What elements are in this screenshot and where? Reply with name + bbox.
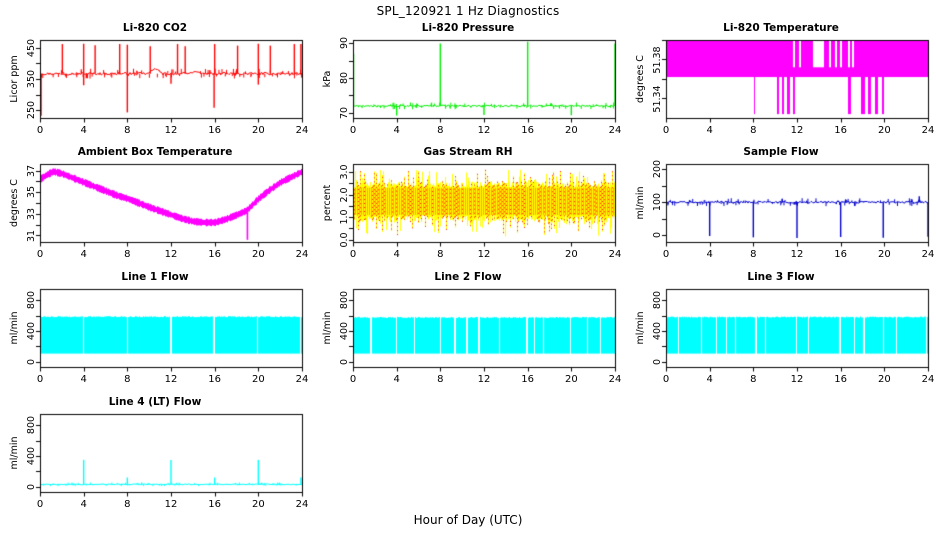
y-tick-label-li820-co2-0: 250 — [26, 101, 37, 119]
x-tick-label-line-1-flow-0: 0 — [26, 374, 54, 385]
diagnostics-figure: SPL_120921 1 Hz Diagnostics Li-820 CO2Li… — [0, 0, 936, 540]
y-tick-label-line-3-flow-0: 0 — [652, 359, 663, 365]
x-tick-label-line-2-flow-4: 16 — [514, 374, 542, 385]
y-axis-label-line-1-flow: ml/min — [9, 311, 20, 344]
y-tick-label-line-1-flow-2: 800 — [26, 291, 37, 309]
plot-canvas-line-3-flow — [626, 271, 936, 383]
x-tick-label-line-2-flow-3: 12 — [470, 374, 498, 385]
x-tick-label-li820-temperature-2: 8 — [739, 125, 767, 136]
plot-canvas-line-4-lt-flow — [0, 396, 310, 508]
x-tick-label-li820-co2-4: 16 — [201, 125, 229, 136]
panel-line-3-flow: Line 3 Flowml/min040080004812162024 — [626, 271, 936, 383]
x-tick-label-line-2-flow-5: 20 — [557, 374, 585, 385]
y-tick-label-line-1-flow-0: 0 — [26, 359, 37, 365]
x-tick-label-line-4-lt-flow-4: 16 — [201, 499, 229, 510]
y-axis-label-line-4-lt-flow: ml/min — [9, 436, 20, 469]
x-tick-label-line-1-flow-6: 24 — [288, 374, 316, 385]
x-tick-label-li820-temperature-1: 4 — [696, 125, 724, 136]
y-tick-label-li820-co2-1: 350 — [26, 70, 37, 88]
plot-canvas-sample-flow — [626, 146, 936, 258]
x-tick-label-line-1-flow-3: 12 — [157, 374, 185, 385]
plot-canvas-li820-pressure — [313, 22, 623, 134]
x-tick-label-li820-temperature-4: 16 — [827, 125, 855, 136]
panel-gas-stream-rh: Gas Stream RHpercent0.01.02.03.004812162… — [313, 146, 623, 258]
y-axis-label-li820-co2: Licor ppm — [9, 55, 20, 102]
x-tick-label-sample-flow-1: 4 — [696, 249, 724, 260]
y-axis-label-li820-pressure: kPa — [322, 71, 333, 88]
x-tick-label-line-1-flow-4: 16 — [201, 374, 229, 385]
x-tick-label-line-1-flow-2: 8 — [113, 374, 141, 385]
x-tick-label-line-4-lt-flow-5: 20 — [244, 499, 272, 510]
x-tick-label-li820-co2-0: 0 — [26, 125, 54, 136]
x-tick-label-line-2-flow-6: 24 — [601, 374, 629, 385]
y-tick-label-line-3-flow-2: 800 — [652, 291, 663, 309]
x-tick-label-li820-temperature-0: 0 — [652, 125, 680, 136]
y-tick-label-gas-stream-rh-1: 1.0 — [339, 210, 350, 225]
plot-canvas-line-2-flow — [313, 271, 623, 383]
y-tick-label-line-1-flow-1: 400 — [26, 322, 37, 340]
y-tick-label-line-2-flow-1: 400 — [339, 322, 350, 340]
plot-canvas-ambient-box-temperature — [0, 146, 310, 258]
x-tick-label-sample-flow-2: 8 — [739, 249, 767, 260]
x-tick-label-li820-co2-1: 4 — [70, 125, 98, 136]
panel-line-4-lt-flow: Line 4 (LT) Flowml/min040080004812162024 — [0, 396, 310, 508]
y-tick-label-sample-flow-2: 200 — [652, 160, 663, 178]
x-tick-label-line-4-lt-flow-6: 24 — [288, 499, 316, 510]
y-axis-label-sample-flow: ml/min — [635, 186, 646, 219]
x-tick-label-line-4-lt-flow-3: 12 — [157, 499, 185, 510]
x-tick-label-li820-pressure-1: 4 — [383, 125, 411, 136]
x-tick-label-ambient-box-temperature-4: 16 — [201, 249, 229, 260]
x-tick-label-line-1-flow-1: 4 — [70, 374, 98, 385]
y-tick-label-li820-temperature-1: 51.38 — [652, 46, 663, 73]
y-tick-label-ambient-box-temperature-2: 35 — [26, 186, 37, 198]
x-tick-label-ambient-box-temperature-6: 24 — [288, 249, 316, 260]
x-tick-label-line-3-flow-4: 16 — [827, 374, 855, 385]
panel-sample-flow: Sample Flowml/min010020004812162024 — [626, 146, 936, 258]
x-tick-label-sample-flow-6: 24 — [914, 249, 936, 260]
x-tick-label-li820-temperature-3: 12 — [783, 125, 811, 136]
x-tick-label-ambient-box-temperature-0: 0 — [26, 249, 54, 260]
y-tick-label-line-4-lt-flow-0: 0 — [26, 484, 37, 490]
x-tick-label-line-2-flow-2: 8 — [426, 374, 454, 385]
x-tick-label-li820-co2-3: 12 — [157, 125, 185, 136]
x-tick-label-gas-stream-rh-3: 12 — [470, 249, 498, 260]
y-tick-label-ambient-box-temperature-1: 33 — [26, 208, 37, 220]
y-tick-label-sample-flow-0: 0 — [652, 232, 663, 238]
figure-x-axis-label: Hour of Day (UTC) — [0, 513, 936, 527]
plot-canvas-gas-stream-rh — [313, 146, 623, 258]
x-tick-label-li820-pressure-5: 20 — [557, 125, 585, 136]
panel-line-2-flow: Line 2 Flowml/min040080004812162024 — [313, 271, 623, 383]
plot-canvas-line-1-flow — [0, 271, 310, 383]
y-tick-label-line-4-lt-flow-2: 800 — [26, 416, 37, 434]
plot-canvas-li820-temperature — [626, 22, 936, 134]
y-axis-label-ambient-box-temperature: degrees C — [9, 179, 20, 227]
y-tick-label-line-3-flow-1: 400 — [652, 322, 663, 340]
x-tick-label-li820-co2-2: 8 — [113, 125, 141, 136]
y-tick-label-ambient-box-temperature-0: 31 — [26, 229, 37, 241]
y-tick-label-line-4-lt-flow-1: 400 — [26, 447, 37, 465]
x-tick-label-li820-co2-6: 24 — [288, 125, 316, 136]
y-tick-label-line-2-flow-0: 0 — [339, 359, 350, 365]
x-tick-label-line-2-flow-1: 4 — [383, 374, 411, 385]
x-tick-label-line-2-flow-0: 0 — [339, 374, 367, 385]
x-tick-label-line-3-flow-3: 12 — [783, 374, 811, 385]
x-tick-label-ambient-box-temperature-1: 4 — [70, 249, 98, 260]
y-axis-label-line-2-flow: ml/min — [322, 311, 333, 344]
y-tick-label-li820-pressure-2: 90 — [339, 37, 350, 49]
y-tick-label-sample-flow-1: 100 — [652, 193, 663, 211]
plot-canvas-li820-co2 — [0, 22, 310, 134]
x-tick-label-sample-flow-0: 0 — [652, 249, 680, 260]
y-axis-label-li820-temperature: degrees C — [635, 55, 646, 103]
y-tick-label-gas-stream-rh-3: 3.0 — [339, 164, 350, 179]
x-tick-label-li820-pressure-6: 24 — [601, 125, 629, 136]
x-tick-label-line-3-flow-6: 24 — [914, 374, 936, 385]
x-tick-label-ambient-box-temperature-3: 12 — [157, 249, 185, 260]
panel-li820-temperature: Li-820 Temperaturedegrees C51.3451.38048… — [626, 22, 936, 134]
x-tick-label-ambient-box-temperature-5: 20 — [244, 249, 272, 260]
y-tick-label-li820-co2-2: 450 — [26, 39, 37, 57]
x-tick-label-line-3-flow-2: 8 — [739, 374, 767, 385]
x-tick-label-line-4-lt-flow-1: 4 — [70, 499, 98, 510]
x-tick-label-line-3-flow-1: 4 — [696, 374, 724, 385]
x-tick-label-gas-stream-rh-1: 4 — [383, 249, 411, 260]
panel-line-1-flow: Line 1 Flowml/min040080004812162024 — [0, 271, 310, 383]
y-tick-label-li820-temperature-0: 51.34 — [652, 85, 663, 112]
x-tick-label-li820-co2-5: 20 — [244, 125, 272, 136]
x-tick-label-li820-pressure-3: 12 — [470, 125, 498, 136]
y-axis-label-gas-stream-rh: percent — [322, 185, 333, 221]
x-tick-label-line-3-flow-5: 20 — [870, 374, 898, 385]
x-tick-label-gas-stream-rh-4: 16 — [514, 249, 542, 260]
x-tick-label-gas-stream-rh-2: 8 — [426, 249, 454, 260]
x-tick-label-line-4-lt-flow-2: 8 — [113, 499, 141, 510]
y-tick-label-gas-stream-rh-0: 0.0 — [339, 232, 350, 247]
panel-ambient-box-temperature: Ambient Box Temperaturedegrees C31333537… — [0, 146, 310, 258]
x-tick-label-sample-flow-3: 12 — [783, 249, 811, 260]
x-tick-label-li820-pressure-0: 0 — [339, 125, 367, 136]
x-tick-label-ambient-box-temperature-2: 8 — [113, 249, 141, 260]
y-tick-label-gas-stream-rh-2: 2.0 — [339, 187, 350, 202]
x-tick-label-line-3-flow-0: 0 — [652, 374, 680, 385]
y-axis-label-line-3-flow: ml/min — [635, 311, 646, 344]
x-tick-label-line-1-flow-5: 20 — [244, 374, 272, 385]
y-tick-label-ambient-box-temperature-3: 37 — [26, 164, 37, 176]
x-tick-label-sample-flow-5: 20 — [870, 249, 898, 260]
figure-title: SPL_120921 1 Hz Diagnostics — [0, 4, 936, 18]
x-tick-label-gas-stream-rh-6: 24 — [601, 249, 629, 260]
x-tick-label-li820-temperature-6: 24 — [914, 125, 936, 136]
x-tick-label-gas-stream-rh-0: 0 — [339, 249, 367, 260]
y-tick-label-line-2-flow-2: 800 — [339, 291, 350, 309]
y-tick-label-li820-pressure-0: 70 — [339, 107, 350, 119]
x-tick-label-li820-temperature-5: 20 — [870, 125, 898, 136]
x-tick-label-li820-pressure-4: 16 — [514, 125, 542, 136]
x-tick-label-gas-stream-rh-5: 20 — [557, 249, 585, 260]
x-tick-label-li820-pressure-2: 8 — [426, 125, 454, 136]
x-tick-label-line-4-lt-flow-0: 0 — [26, 499, 54, 510]
panel-li820-pressure: Li-820 PressurekPa70809004812162024 — [313, 22, 623, 134]
panel-li820-co2: Li-820 CO2Licor ppm25035045004812162024 — [0, 22, 310, 134]
y-tick-label-li820-pressure-1: 80 — [339, 72, 350, 84]
x-tick-label-sample-flow-4: 16 — [827, 249, 855, 260]
